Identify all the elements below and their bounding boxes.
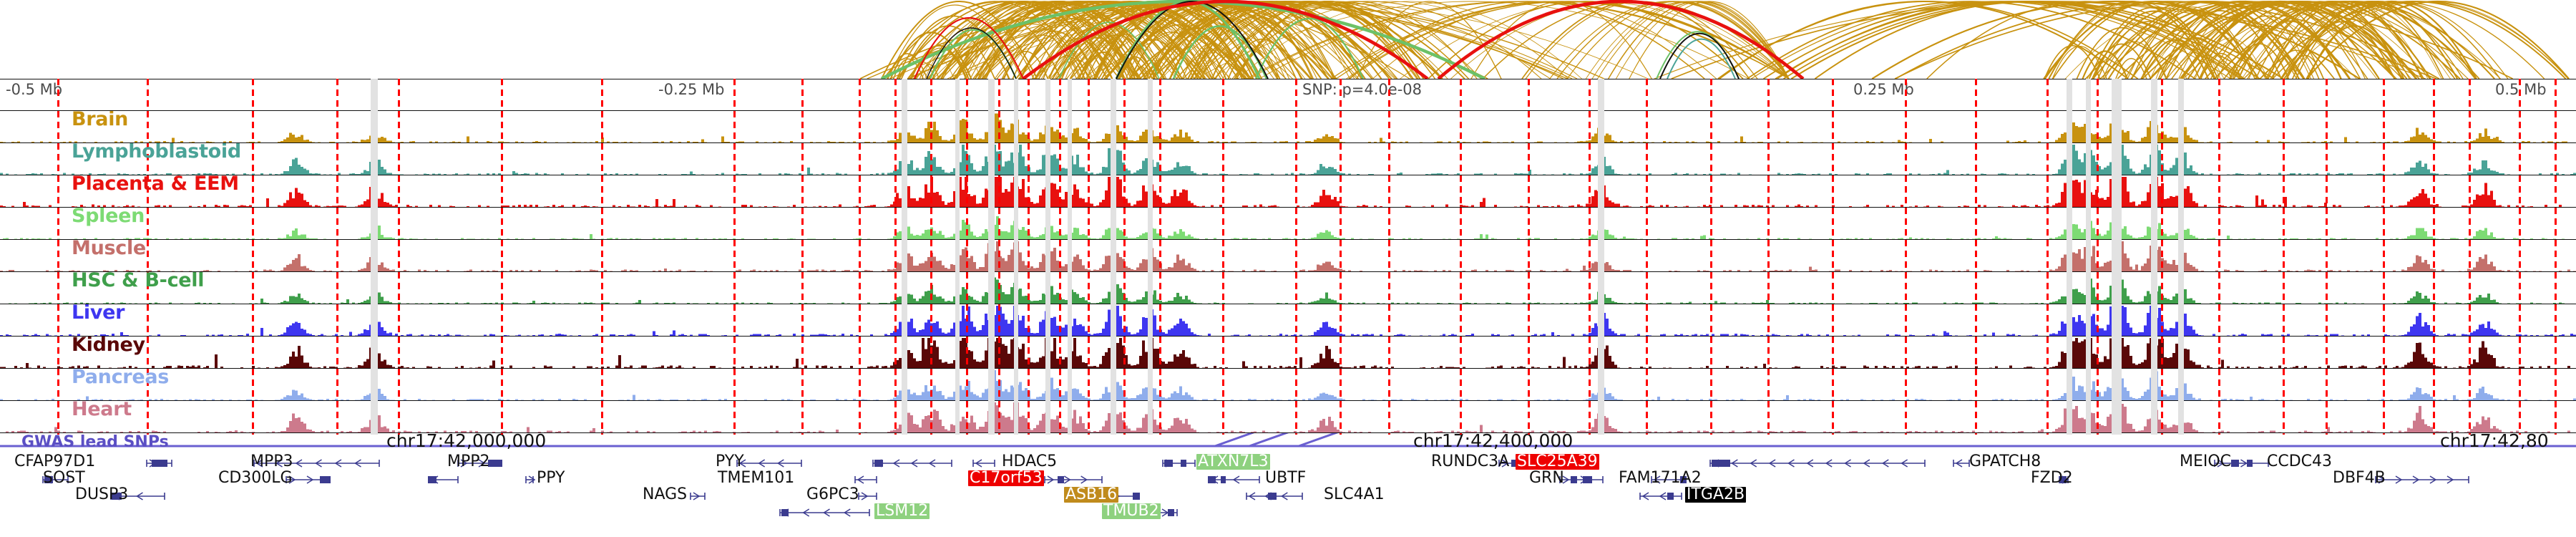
track-muscle[interactable]: Muscle (0, 240, 2576, 272)
track-kidney[interactable]: Kidney (0, 337, 2576, 369)
interaction-arc (1751, 1, 2230, 79)
gene-model[interactable] (855, 476, 877, 483)
gene-label-atxn7l3[interactable]: ATXN7L3 (1196, 454, 1270, 470)
gene-label-mpp3[interactable]: MPP3 (250, 454, 293, 470)
gene-label-hdac5[interactable]: HDAC5 (1002, 454, 1057, 470)
gene-label-fam171a2[interactable]: FAM171A2 (1619, 470, 1702, 486)
track-signal-profile (0, 369, 2576, 400)
track-placenta-eem[interactable]: Placenta & EEM (0, 175, 2576, 208)
gene-model[interactable] (859, 493, 877, 500)
gene-label-ubtf[interactable]: UBTF (1265, 470, 1306, 486)
gene-label-rundc3a[interactable]: RUNDC3A (1431, 454, 1509, 470)
gene-label-asb16[interactable]: ASB16 (1064, 487, 1118, 503)
gene-label-slc4a1[interactable]: SLC4A1 (1324, 487, 1385, 503)
gene-label-pyy[interactable]: PYY (716, 454, 744, 470)
arcs-svg (0, 0, 2576, 79)
track-lymphoblastoid[interactable]: Lymphoblastoid (0, 143, 2576, 175)
signal-tracks-panel: -0.5 Mb -0.25 Mb SNP: p=4.0e-08 0.25 Mb … (0, 79, 2576, 433)
gene-label-itga2b[interactable]: ITGA2B (1685, 487, 1746, 503)
track-label: Lymphoblastoid (72, 143, 241, 163)
axis-tick-label-neg05: -0.5 Mb (6, 81, 62, 98)
gene-label-dusp3[interactable]: DUSP3 (75, 487, 128, 503)
track-signal-profile (0, 402, 2576, 432)
gene-model[interactable] (1208, 476, 1259, 483)
gene-label-sost[interactable]: SOST (43, 470, 85, 486)
gene-model[interactable] (973, 460, 995, 467)
track-signal-profile (0, 241, 2576, 271)
gene-label-nags[interactable]: NAGS (643, 487, 687, 503)
gene-model[interactable] (1045, 476, 1102, 483)
coordinate-label-2: chr17:42,400,000 (1413, 430, 1573, 451)
gwas-snp-connector (1299, 433, 1385, 446)
gene-label-ccdc43[interactable]: CCDC43 (2267, 454, 2332, 470)
track-signal-profile (0, 273, 2576, 304)
gwas-lead-snps-label: GWAS lead SNPs (21, 433, 169, 451)
track-signal-profile (0, 305, 2576, 336)
gene-model[interactable] (780, 509, 869, 516)
gene-model[interactable] (691, 493, 705, 500)
track-label: HSC & B-cell (72, 272, 204, 291)
track-label: Liver (72, 304, 125, 324)
gene-label-tmem101[interactable]: TMEM101 (718, 470, 794, 486)
chromatin-interaction-arcs-panel (0, 0, 2576, 79)
gene-label-meioc[interactable]: MEIOC (2180, 454, 2231, 470)
gene-annotation-panel: GWAS lead SNPs chr17:42,000,000 chr17:42… (0, 433, 2576, 537)
gene-model[interactable] (1710, 460, 1925, 467)
coordinate-label-3: chr17:42,80 (2440, 430, 2549, 451)
gene-label-slc25a39[interactable]: SLC25A39 (1516, 454, 1599, 470)
track-signal-profile (0, 144, 2576, 175)
genome-ruler[interactable]: -0.5 Mb -0.25 Mb SNP: p=4.0e-08 0.25 Mb … (0, 79, 2576, 111)
gene-model[interactable] (1159, 509, 1177, 516)
track-brain[interactable]: Brain (0, 111, 2576, 143)
gene-model[interactable] (2376, 476, 2469, 483)
gene-model[interactable] (428, 476, 458, 483)
track-pancreas[interactable]: Pancreas (0, 369, 2576, 401)
interaction-arc (1667, 39, 1735, 79)
gene-label-g6pc3[interactable]: G6PC3 (806, 487, 859, 503)
track-label: Kidney (72, 337, 145, 356)
gene-label-fzd2[interactable]: FZD2 (2031, 470, 2073, 486)
gene-model[interactable] (526, 476, 535, 483)
track-signal-profile (0, 112, 2576, 142)
track-label: Pancreas (72, 369, 169, 388)
track-label: Brain (72, 111, 128, 130)
gene-model[interactable] (1560, 476, 1603, 483)
gene-label-ppy[interactable]: PPY (537, 470, 565, 486)
track-label: Placenta & EEM (72, 175, 239, 195)
gene-label-lsm12[interactable]: LSM12 (874, 503, 930, 519)
track-spleen[interactable]: Spleen (0, 208, 2576, 240)
track-label: Heart (72, 401, 132, 420)
gene-label-grn[interactable]: GRN (1529, 470, 1564, 486)
track-signal-profile (0, 337, 2576, 368)
track-label: Spleen (72, 208, 145, 227)
track-signal-profile (0, 176, 2576, 207)
coordinate-label-1: chr17:42,000,000 (386, 430, 546, 451)
gene-model[interactable] (1163, 460, 1195, 467)
gene-label-mpp2[interactable]: MPP2 (447, 454, 490, 470)
gene-label-c17orf53[interactable]: C17orf53 (968, 470, 1044, 486)
axis-tick-label-pos05: 0.5 Mb (2495, 81, 2547, 98)
gene-model[interactable] (1953, 460, 1969, 467)
gene-label-dbf4b[interactable]: DBF4B (2333, 470, 2386, 486)
track-signal-profile (0, 208, 2576, 239)
gene-model[interactable] (286, 476, 331, 483)
axis-tick-label-neg025: -0.25 Mb (658, 81, 724, 98)
track-label: Muscle (72, 240, 146, 259)
gene-label-cd300lg[interactable]: CD300LG (218, 470, 293, 486)
gene-label-cfap97d1[interactable]: CFAP97D1 (14, 454, 95, 470)
axis-tick-label-snp: SNP: p=4.0e-08 (1302, 81, 1422, 98)
gene-model[interactable] (873, 460, 952, 467)
gene-label-tmub2[interactable]: TMUB2 (1102, 503, 1161, 519)
gene-model[interactable] (737, 460, 801, 467)
gwas-snp-connector (1249, 433, 1335, 446)
track-liver[interactable]: Liver (0, 304, 2576, 337)
axis-tick-label-pos025: 0.25 Mb (1853, 81, 1914, 98)
gene-label-gpatch8[interactable]: GPATCH8 (1969, 454, 2041, 470)
track-hsc-b-cell[interactable]: HSC & B-cell (0, 272, 2576, 304)
gene-model[interactable] (147, 460, 172, 467)
gene-model[interactable] (1246, 493, 1302, 500)
track-heart[interactable]: Heart (0, 401, 2576, 433)
gene-model[interactable] (1640, 493, 1682, 500)
